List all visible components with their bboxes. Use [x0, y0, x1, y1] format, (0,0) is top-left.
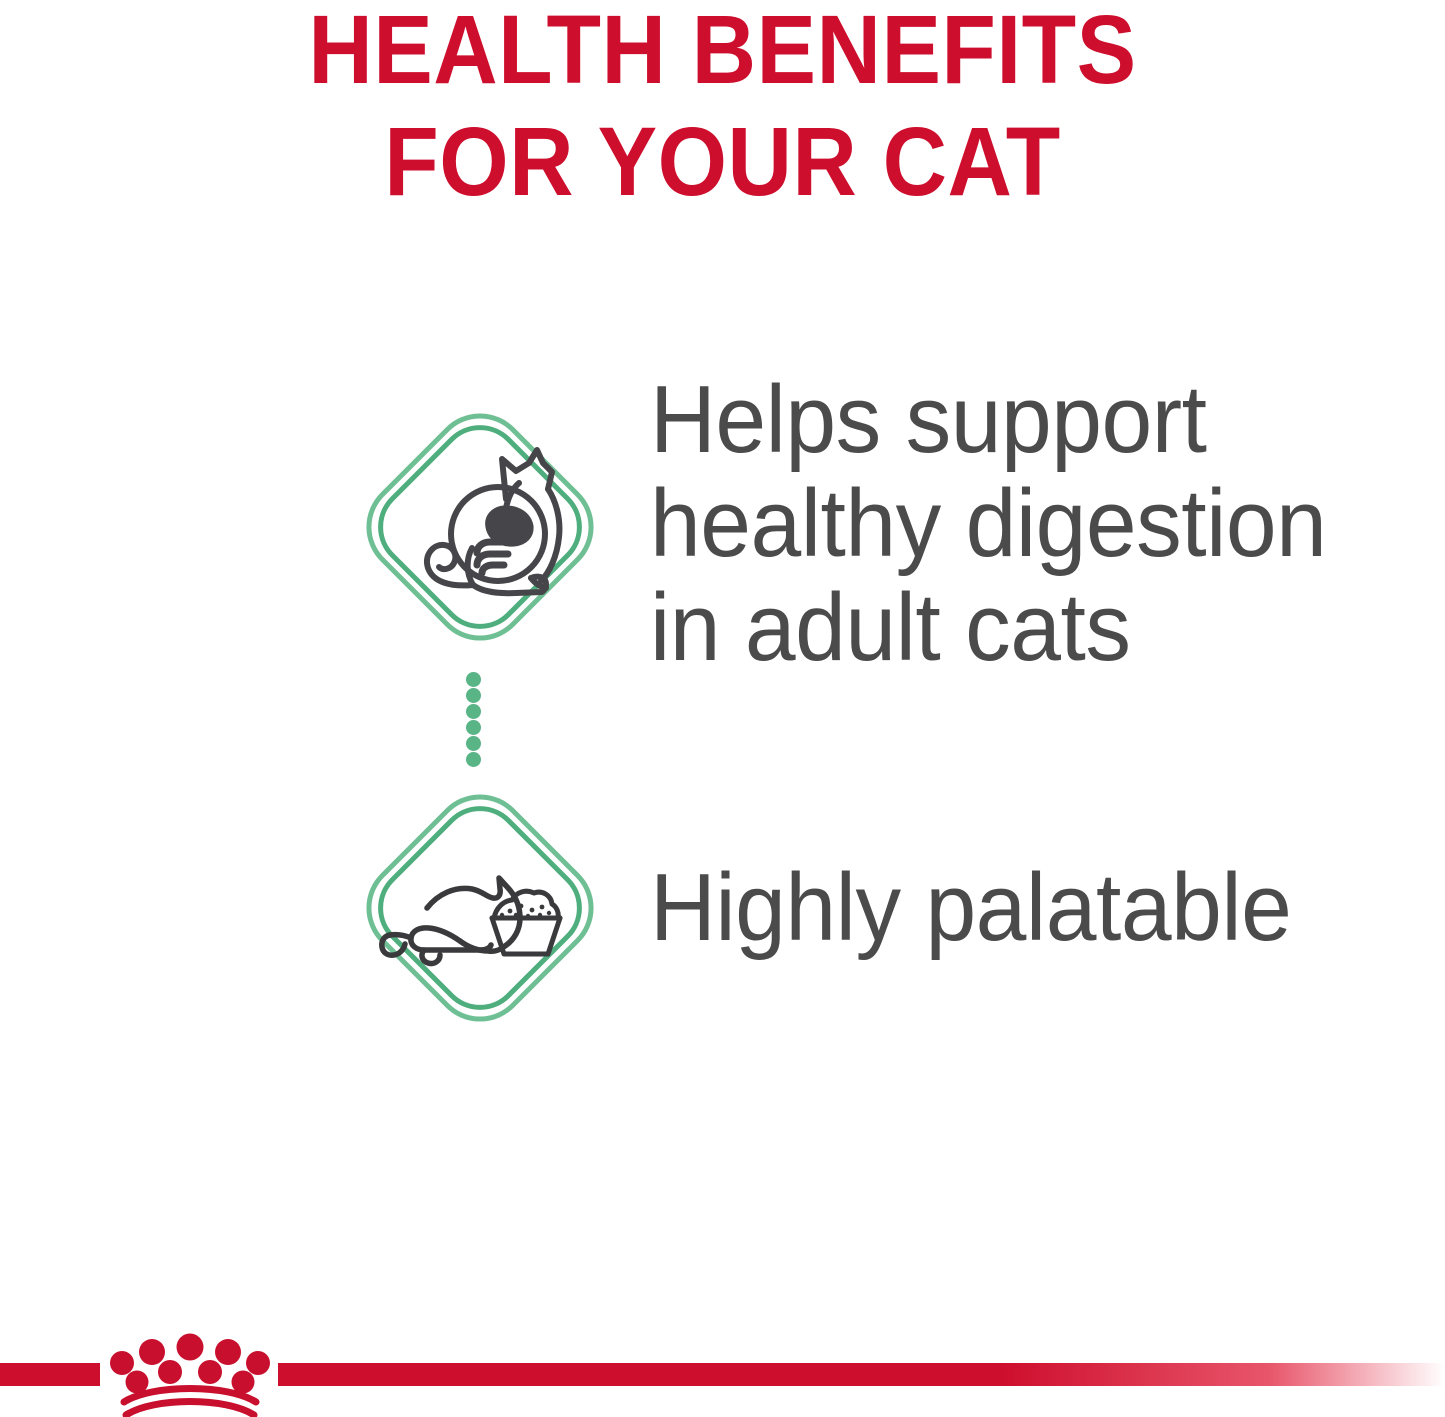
connector-dot: [466, 672, 481, 687]
benefit-item-digestion: Helps support healthy digestion in adult…: [330, 368, 1362, 686]
footer: [0, 1330, 1445, 1417]
benefit-label-digestion: Helps support healthy digestion in adult…: [650, 368, 1326, 686]
connector-dot: [466, 720, 481, 735]
crown-arcs: [124, 1389, 256, 1416]
connector-dot: [466, 688, 481, 703]
crown-circles: [110, 1334, 270, 1394]
dotted-connector: [466, 672, 484, 764]
page-title-line-2: FOR YOUR CAT: [58, 106, 1387, 218]
diamond-outline-outer: [350, 778, 610, 1038]
food-bowl-glyph: [492, 891, 560, 954]
badge-digestion: [330, 377, 630, 677]
diamond-outline-inner: [364, 792, 596, 1024]
diamond-outline-outer: [350, 397, 610, 657]
royal-canin-crown-logo: [100, 1330, 280, 1417]
cat-eating-glyph: [382, 878, 520, 964]
page-title-line-1: HEALTH BENEFITS: [58, 0, 1387, 106]
badge-palatable: [330, 758, 630, 1058]
footer-rule-right: [278, 1363, 1445, 1386]
page-title: HEALTH BENEFITS FOR YOUR CAT: [58, 0, 1387, 218]
footer-rule-left: [0, 1363, 100, 1386]
connector-dot: [466, 704, 481, 719]
connector-dot: [466, 736, 481, 751]
stomach-shape: [488, 508, 531, 544]
benefit-label-palatable: Highly palatable: [650, 856, 1291, 960]
benefit-item-palatable: Highly palatable: [330, 758, 1325, 1058]
